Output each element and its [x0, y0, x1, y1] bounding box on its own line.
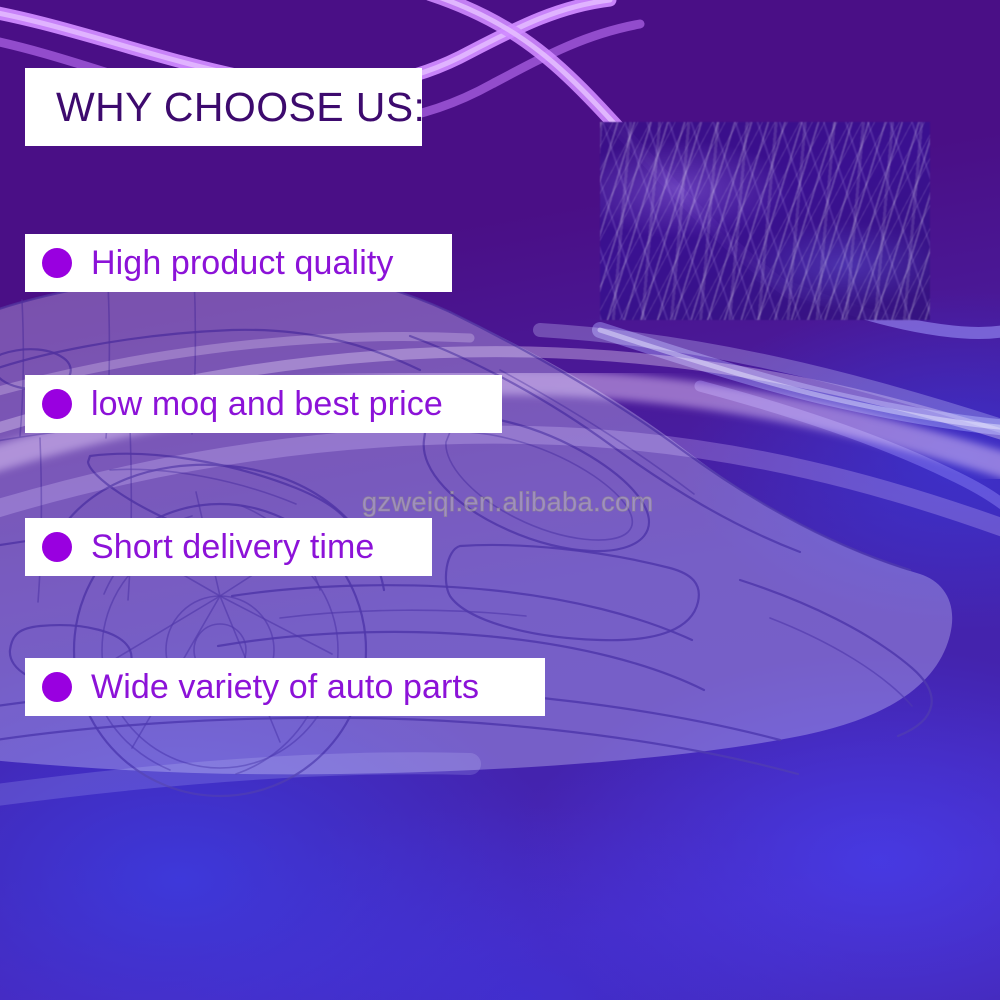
page-title: WHY CHOOSE US:	[56, 84, 425, 131]
benefit-item-2: Short delivery time	[25, 518, 432, 576]
title-panel: WHY CHOOSE US:	[25, 68, 422, 146]
benefit-label-3: Wide variety of auto parts	[91, 668, 479, 707]
filled-circle-bullet-icon	[42, 389, 72, 419]
benefit-item-1: low moq and best price	[25, 375, 502, 433]
benefit-item-0: High product quality	[25, 234, 452, 292]
benefit-label-0: High product quality	[91, 244, 394, 283]
filled-circle-bullet-icon	[42, 248, 72, 278]
benefit-label-1: low moq and best price	[91, 385, 443, 424]
filled-circle-bullet-icon	[42, 532, 72, 562]
benefit-label-2: Short delivery time	[91, 528, 374, 567]
filled-circle-bullet-icon	[42, 672, 72, 702]
benefit-item-3: Wide variety of auto parts	[25, 658, 545, 716]
promo-banner: gzweiqi.en.alibaba.com WHY CHOOSE US: Hi…	[0, 0, 1000, 1000]
